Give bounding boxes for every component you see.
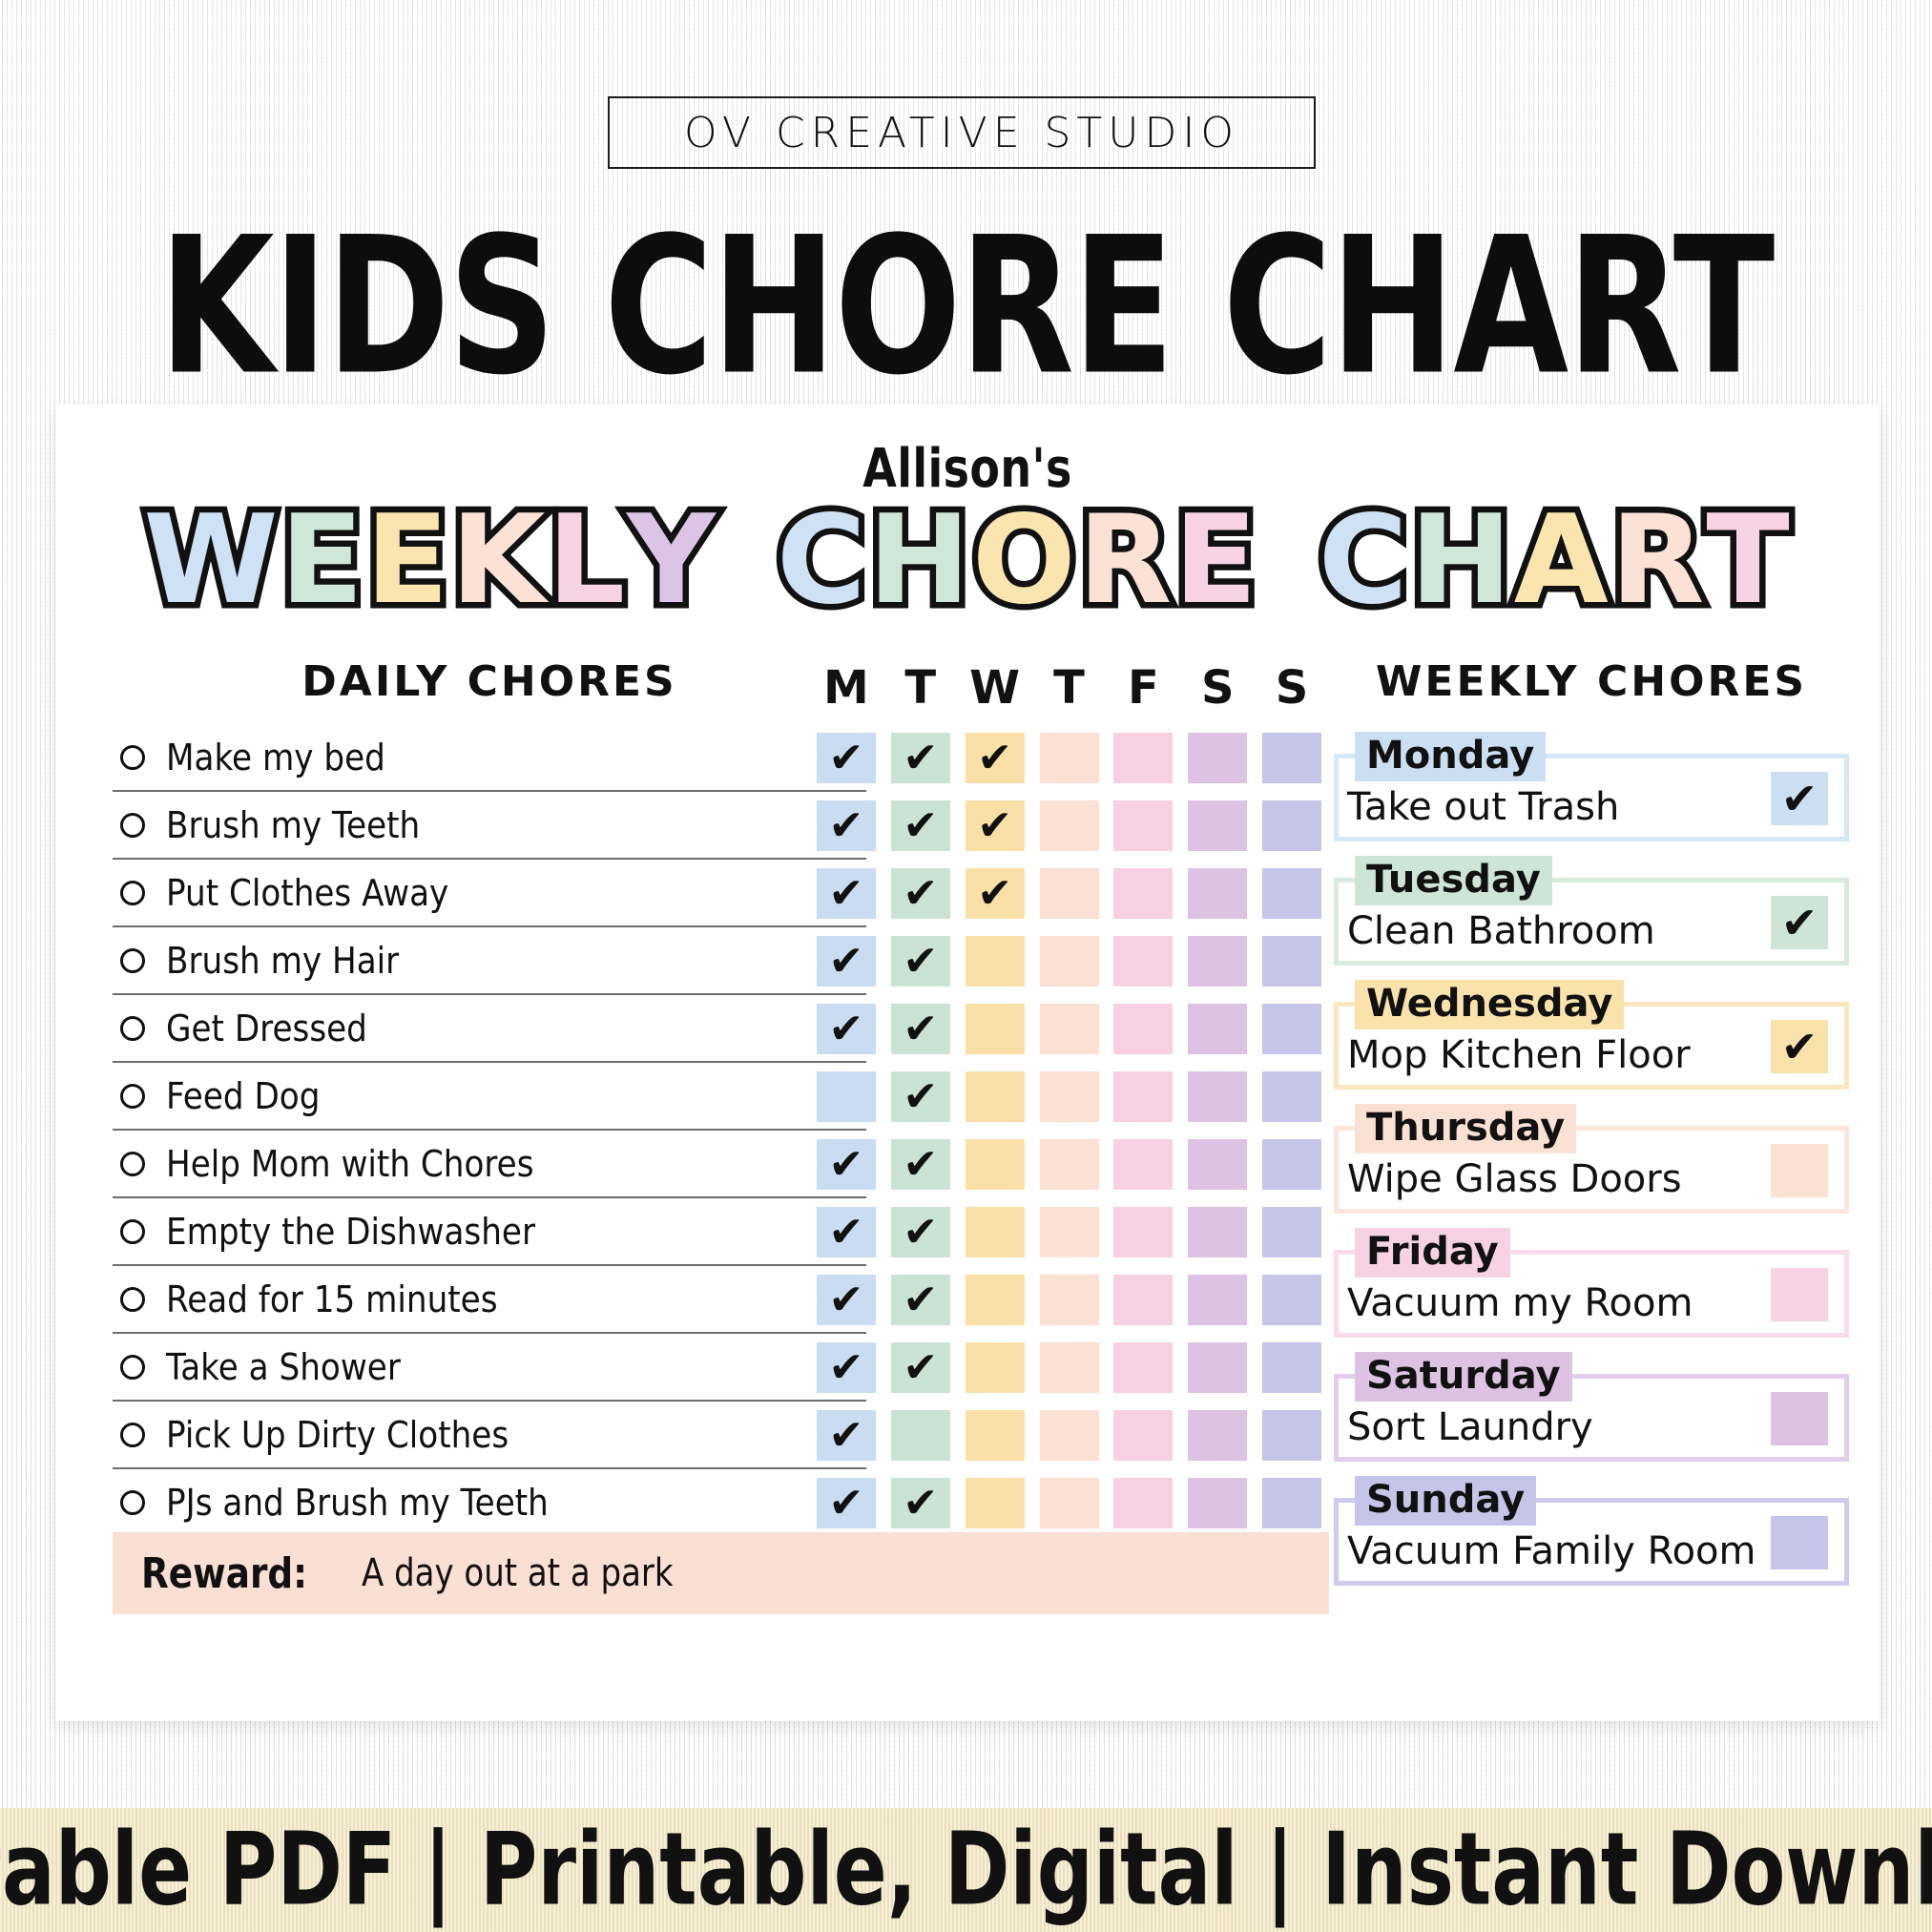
grid-cell-wrap: ✔	[883, 1139, 958, 1190]
grid-row: ✔✔	[809, 1198, 1329, 1266]
grid-row: ✔✔✔	[809, 792, 1329, 860]
promo-banner-text: Editable PDF | Printable, Digital | Inst…	[0, 1812, 1932, 1928]
grid-cell-empty[interactable]	[1113, 1410, 1173, 1461]
weekly-chore-item[interactable]: ThursdayWipe Glass Doors	[1334, 1104, 1849, 1228]
weekly-chore-task[interactable]: Wipe Glass Doors	[1347, 1157, 1682, 1201]
grid-cell-wrap: ✔	[958, 733, 1032, 783]
grid-cell-wrap	[1032, 1207, 1107, 1257]
grid-cell-wrap	[1032, 1139, 1107, 1190]
grid-cell-wrap	[1032, 1342, 1107, 1393]
daily-chore-row[interactable]: Pick Up Dirty Clothes	[113, 1402, 866, 1469]
grid-cell-empty[interactable]	[1040, 1207, 1099, 1257]
weekly-chore-item[interactable]: MondayTake out Trash✔	[1334, 732, 1849, 856]
grid-cell-wrap	[1180, 1342, 1255, 1393]
grid-cell-checked[interactable]: ✔	[817, 1207, 876, 1257]
weekly-chore-checkbox-empty[interactable]	[1771, 1392, 1828, 1445]
bubble-letter: E	[280, 495, 365, 627]
grid-cell-empty[interactable]	[1040, 800, 1099, 851]
weekday-initial: T	[1032, 661, 1107, 715]
grid-cell-wrap	[1255, 1004, 1329, 1054]
grid-cell-empty[interactable]	[1262, 800, 1321, 851]
weekday-initial: S	[1255, 661, 1329, 715]
reward-label: Reward:	[141, 1549, 307, 1598]
grid-row: ✔✔	[809, 1266, 1329, 1334]
bubble-word-chart: CHART	[1319, 495, 1792, 627]
grid-cell-wrap	[1032, 1478, 1107, 1528]
grid-row: ✔✔✔	[809, 724, 1329, 792]
grid-cell-wrap	[1032, 936, 1107, 987]
grid-cell-empty[interactable]	[966, 1410, 1025, 1461]
circle-checkbox-icon[interactable]	[120, 1084, 145, 1109]
grid-cell-wrap: ✔	[883, 1478, 958, 1528]
grid-cell-empty[interactable]	[1113, 1139, 1173, 1190]
grid-cell-wrap	[1106, 1004, 1180, 1054]
grid-cell-wrap: ✔	[809, 1139, 883, 1190]
daily-chore-label: PJs and Brush my Teeth	[166, 1482, 549, 1524]
grid-cell-checked[interactable]: ✔	[891, 733, 950, 783]
grid-cell-empty[interactable]	[1040, 1139, 1099, 1190]
grid-cell-empty[interactable]	[966, 1207, 1025, 1257]
grid-cell-empty[interactable]	[1040, 1275, 1099, 1325]
grid-cell-wrap: ✔	[883, 1004, 958, 1054]
bubble-letter: A	[1514, 495, 1610, 627]
bubble-letter: R	[1610, 495, 1707, 627]
daily-chore-row[interactable]: Put Clothes Away	[113, 860, 866, 927]
grid-row: ✔✔	[809, 995, 1329, 1063]
grid-cell-wrap	[1106, 1342, 1180, 1393]
grid-cell-wrap	[1180, 868, 1255, 919]
grid-cell-wrap	[1032, 800, 1107, 851]
grid-cell-checked[interactable]: ✔	[817, 1275, 876, 1325]
grid-cell-empty[interactable]	[1113, 936, 1173, 987]
weekly-chore-day-label: Wednesday	[1355, 980, 1624, 1029]
grid-cell-wrap: ✔	[809, 1342, 883, 1393]
weekly-chore-task[interactable]: Vacuum my Room	[1347, 1281, 1693, 1325]
grid-cell-checked[interactable]: ✔	[891, 868, 950, 919]
weekday-initial: W	[958, 661, 1032, 715]
weekday-grid-body: ✔✔✔✔✔✔✔✔✔✔✔✔✔✔✔✔✔✔✔✔✔✔✔✔✔	[809, 724, 1329, 1537]
daily-chore-label: Brush my Teeth	[166, 804, 420, 846]
grid-row: ✔✔	[809, 927, 1329, 995]
grid-cell-empty[interactable]	[1040, 1342, 1099, 1393]
grid-cell-wrap: ✔	[883, 1071, 958, 1122]
grid-cell-empty[interactable]	[1262, 868, 1321, 919]
daily-chore-label: Get Dressed	[166, 1008, 367, 1049]
grid-cell-wrap	[1180, 1275, 1255, 1325]
grid-cell-wrap: ✔	[883, 1207, 958, 1257]
grid-cell-wrap	[1106, 1071, 1180, 1122]
daily-chores-list: Make my bedBrush my TeethPut Clothes Awa…	[113, 724, 866, 1537]
grid-cell-wrap	[958, 1342, 1032, 1393]
grid-cell-empty[interactable]	[966, 1004, 1025, 1054]
circle-checkbox-icon[interactable]	[120, 948, 145, 973]
page-title: KIDS CHORE CHART	[68, 212, 1864, 401]
grid-cell-wrap: ✔	[809, 1004, 883, 1054]
grid-cell-wrap	[958, 1410, 1032, 1461]
grid-cell-checked[interactable]: ✔	[817, 868, 876, 919]
grid-cell-wrap	[1180, 936, 1255, 987]
daily-chore-row[interactable]: Brush my Teeth	[113, 792, 866, 860]
weekly-chore-task[interactable]: Take out Trash	[1347, 785, 1619, 829]
grid-cell-wrap: ✔	[883, 1275, 958, 1325]
grid-cell-empty[interactable]	[1113, 1207, 1173, 1257]
grid-cell-wrap: ✔	[809, 1207, 883, 1257]
brand-logo-text: OV CREATIVE STUDIO	[684, 109, 1239, 157]
grid-cell-empty[interactable]	[1188, 1139, 1247, 1190]
circle-checkbox-icon[interactable]	[120, 1152, 145, 1176]
grid-cell-empty[interactable]	[1113, 733, 1173, 783]
grid-cell-wrap	[958, 1478, 1032, 1528]
circle-checkbox-icon[interactable]	[120, 881, 145, 905]
weekly-chore-day-label: Friday	[1355, 1228, 1510, 1278]
grid-cell-empty[interactable]	[1113, 1342, 1173, 1393]
grid-cell-wrap	[1180, 1410, 1255, 1461]
weekly-chore-checkbox-checked[interactable]: ✔	[1771, 896, 1828, 949]
grid-cell-wrap	[1106, 1139, 1180, 1190]
grid-cell-empty[interactable]	[1040, 1004, 1099, 1054]
grid-cell-empty[interactable]	[1262, 1004, 1321, 1054]
grid-cell-checked[interactable]: ✔	[817, 733, 876, 783]
grid-cell-wrap: ✔	[958, 868, 1032, 919]
grid-row: ✔✔✔	[809, 860, 1329, 927]
daily-chores-heading: DAILY CHORES	[113, 657, 866, 718]
grid-cell-empty[interactable]	[1040, 1478, 1099, 1528]
grid-cell-empty[interactable]	[817, 1071, 876, 1122]
bubble-letter: W	[143, 495, 280, 627]
grid-cell-checked[interactable]: ✔	[817, 800, 876, 851]
grid-row: ✔✔	[809, 1469, 1329, 1537]
daily-chore-row[interactable]: Take a Shower	[113, 1334, 866, 1402]
circle-checkbox-icon[interactable]	[120, 1355, 145, 1380]
grid-cell-checked[interactable]: ✔	[891, 1071, 950, 1122]
daily-chore-label: Read for 15 minutes	[166, 1278, 498, 1320]
grid-cell-checked[interactable]: ✔	[891, 1275, 950, 1325]
weekly-chore-day-label: Monday	[1355, 732, 1546, 781]
grid-cell-checked[interactable]: ✔	[817, 1004, 876, 1054]
weekly-chore-task[interactable]: Mop Kitchen Floor	[1347, 1033, 1691, 1077]
grid-cell-wrap: ✔	[958, 800, 1032, 851]
bubble-word-chore: CHORE	[777, 495, 1259, 627]
weekly-chore-item[interactable]: SundayVacuum Family Room	[1334, 1476, 1849, 1600]
weekly-chore-day-label: Thursday	[1355, 1104, 1576, 1153]
grid-cell-wrap	[1106, 868, 1180, 919]
grid-cell-wrap	[1255, 1410, 1329, 1461]
grid-cell-checked[interactable]: ✔	[966, 800, 1025, 851]
grid-cell-empty[interactable]	[1113, 1478, 1173, 1528]
grid-cell-empty[interactable]	[1188, 1071, 1247, 1122]
grid-cell-empty[interactable]	[966, 1478, 1025, 1528]
grid-cell-wrap: ✔	[883, 733, 958, 783]
grid-cell-empty[interactable]	[1262, 1478, 1321, 1528]
weekday-header-row: MTWTFSS	[809, 657, 1329, 718]
weekly-chore-checkbox-checked[interactable]: ✔	[1771, 772, 1828, 825]
grid-cell-wrap	[1106, 1410, 1180, 1461]
grid-cell-empty[interactable]	[1113, 1071, 1173, 1122]
grid-cell-empty[interactable]	[1262, 1410, 1321, 1461]
grid-cell-wrap	[809, 1071, 883, 1122]
weekday-initial: M	[809, 661, 883, 715]
grid-cell-empty[interactable]	[1188, 1478, 1247, 1528]
daily-chore-label: Pick Up Dirty Clothes	[166, 1414, 509, 1456]
daily-chore-row[interactable]: Get Dressed	[113, 995, 866, 1063]
bubble-title: WEEKLYCHORECHART	[55, 495, 1880, 627]
weekday-initial: T	[883, 661, 958, 715]
grid-cell-wrap	[1032, 733, 1107, 783]
weekly-chore-task[interactable]: Sort Laundry	[1347, 1405, 1593, 1449]
bubble-letter: K	[450, 495, 547, 627]
grid-cell-empty[interactable]	[966, 936, 1025, 987]
bubble-letter: T	[1706, 495, 1791, 627]
grid-cell-empty[interactable]	[1188, 868, 1247, 919]
grid-cell-wrap	[1106, 800, 1180, 851]
grid-cell-wrap	[1255, 1139, 1329, 1190]
brand-logo-box: OV CREATIVE STUDIO	[608, 96, 1316, 169]
grid-cell-empty[interactable]	[1040, 936, 1099, 987]
grid-cell-wrap: ✔	[883, 868, 958, 919]
weekly-chore-checkbox-empty[interactable]	[1771, 1144, 1828, 1197]
grid-cell-checked[interactable]: ✔	[891, 800, 950, 851]
daily-chore-row[interactable]: Brush my Hair	[113, 927, 866, 995]
circle-checkbox-icon[interactable]	[120, 745, 145, 770]
bubble-word-weekly: WEEKLY	[143, 495, 717, 627]
weekly-chore-day-label: Sunday	[1355, 1476, 1536, 1526]
grid-cell-wrap	[1106, 1207, 1180, 1257]
weekday-initial: S	[1180, 661, 1255, 715]
grid-cell-checked[interactable]: ✔	[966, 733, 1025, 783]
grid-cell-wrap	[1255, 1071, 1329, 1122]
weekly-chore-day-label: Tuesday	[1355, 856, 1552, 905]
grid-cell-empty[interactable]	[1113, 1004, 1173, 1054]
weekly-chore-checkbox-empty[interactable]	[1771, 1516, 1828, 1569]
grid-cell-empty[interactable]	[1262, 1207, 1321, 1257]
daily-chore-row[interactable]: Help Mom with Chores	[113, 1131, 866, 1198]
daily-chore-row[interactable]: Make my bed	[113, 724, 866, 792]
grid-cell-wrap	[1255, 800, 1329, 851]
grid-cell-empty[interactable]	[1188, 1004, 1247, 1054]
grid-cell-checked[interactable]: ✔	[817, 1478, 876, 1528]
grid-cell-empty[interactable]	[1262, 1275, 1321, 1325]
grid-cell-wrap: ✔	[809, 1478, 883, 1528]
grid-cell-empty[interactable]	[1188, 1342, 1247, 1393]
grid-cell-wrap	[1032, 1410, 1107, 1461]
grid-row: ✔	[809, 1402, 1329, 1469]
chore-chart-card: Allison's WEEKLYCHORECHART DAILY CHORES …	[55, 405, 1880, 1721]
grid-cell-empty[interactable]	[1040, 1071, 1099, 1122]
weekly-chore-checkbox-checked[interactable]: ✔	[1771, 1020, 1828, 1073]
circle-checkbox-icon[interactable]	[120, 1287, 145, 1312]
grid-cell-empty[interactable]	[1188, 733, 1247, 783]
grid-cell-wrap	[1106, 936, 1180, 987]
grid-cell-wrap	[1180, 1071, 1255, 1122]
daily-chore-label: Take a Shower	[166, 1346, 401, 1388]
weekly-chore-item[interactable]: TuesdayClean Bathroom✔	[1334, 856, 1849, 980]
grid-cell-wrap	[1180, 1478, 1255, 1528]
bubble-letter: C	[1319, 495, 1410, 627]
weekly-chore-item[interactable]: WednesdayMop Kitchen Floor✔	[1334, 980, 1849, 1104]
bubble-letter: C	[777, 495, 868, 627]
circle-checkbox-icon[interactable]	[120, 1016, 145, 1041]
daily-chore-row[interactable]: Feed Dog	[113, 1063, 866, 1131]
bubble-letter: Y	[627, 495, 717, 627]
grid-cell-wrap	[1180, 1207, 1255, 1257]
grid-cell-wrap: ✔	[809, 800, 883, 851]
grid-cell-wrap	[1255, 1207, 1329, 1257]
grid-cell-wrap: ✔	[809, 733, 883, 783]
grid-cell-empty[interactable]	[1113, 868, 1173, 919]
grid-cell-empty[interactable]	[966, 1275, 1025, 1325]
grid-cell-wrap	[1032, 1004, 1107, 1054]
grid-row: ✔✔	[809, 1131, 1329, 1198]
grid-cell-checked[interactable]: ✔	[891, 1004, 950, 1054]
grid-cell-wrap	[958, 936, 1032, 987]
bubble-letter: H	[1410, 495, 1514, 627]
circle-checkbox-icon[interactable]	[120, 813, 145, 838]
grid-row: ✔	[809, 1063, 1329, 1131]
grid-cell-checked[interactable]: ✔	[817, 1139, 876, 1190]
bubble-letter: L	[548, 495, 628, 627]
grid-cell-wrap	[1255, 936, 1329, 987]
grid-cell-wrap	[958, 1071, 1032, 1122]
grid-cell-wrap	[1180, 733, 1255, 783]
grid-cell-empty[interactable]	[1262, 936, 1321, 987]
bubble-letter: H	[868, 495, 972, 627]
weekday-initial: F	[1106, 661, 1180, 715]
grid-cell-wrap: ✔	[883, 800, 958, 851]
grid-cell-wrap	[1032, 1275, 1107, 1325]
daily-chore-row[interactable]: Empty the Dishwasher	[113, 1198, 866, 1266]
grid-cell-checked[interactable]: ✔	[817, 936, 876, 987]
grid-cell-wrap	[1106, 1478, 1180, 1528]
weekly-chores-heading: WEEKLY CHORES	[1334, 657, 1849, 718]
circle-checkbox-icon[interactable]	[120, 1423, 145, 1447]
grid-cell-wrap	[958, 1275, 1032, 1325]
promo-banner: Editable PDF | Printable, Digital | Inst…	[0, 1808, 1932, 1932]
grid-cell-empty[interactable]	[1188, 1410, 1247, 1461]
grid-cell-wrap: ✔	[809, 1410, 883, 1461]
weekly-chore-day-label: Saturday	[1355, 1352, 1572, 1402]
weekly-chores-list: MondayTake out Trash✔TuesdayClean Bathro…	[1334, 732, 1849, 1600]
grid-cell-empty[interactable]	[1040, 1410, 1099, 1461]
grid-cell-checked[interactable]: ✔	[891, 1478, 950, 1528]
reward-bar: Reward: A day out at a park	[113, 1532, 1329, 1614]
grid-cell-checked[interactable]: ✔	[891, 936, 950, 987]
daily-chore-row[interactable]: Read for 15 minutes	[113, 1266, 866, 1334]
grid-cell-wrap	[1255, 1478, 1329, 1528]
grid-cell-wrap	[1255, 1342, 1329, 1393]
grid-cell-wrap	[1180, 1004, 1255, 1054]
grid-cell-wrap	[1180, 1139, 1255, 1190]
grid-cell-empty[interactable]	[966, 1342, 1025, 1393]
grid-cell-wrap	[1106, 1275, 1180, 1325]
daily-chore-row[interactable]: PJs and Brush my Teeth	[113, 1469, 866, 1537]
grid-cell-checked[interactable]: ✔	[966, 868, 1025, 919]
weekly-chore-task[interactable]: Vacuum Family Room	[1347, 1529, 1755, 1573]
grid-cell-wrap	[1032, 868, 1107, 919]
grid-cell-checked[interactable]: ✔	[891, 1139, 950, 1190]
grid-cell-empty[interactable]	[1262, 733, 1321, 783]
grid-cell-checked[interactable]: ✔	[891, 1207, 950, 1257]
daily-chore-label: Feed Dog	[166, 1075, 320, 1117]
grid-cell-wrap: ✔	[809, 936, 883, 987]
grid-cell-empty[interactable]	[1113, 1275, 1173, 1325]
grid-cell-wrap	[1255, 1275, 1329, 1325]
daily-chore-label: Brush my Hair	[166, 940, 399, 982]
grid-cell-empty[interactable]	[1262, 1071, 1321, 1122]
grid-cell-empty[interactable]	[1262, 1342, 1321, 1393]
weekly-chore-item[interactable]: FridayVacuum my Room	[1334, 1228, 1849, 1352]
bubble-letter: R	[1078, 495, 1174, 627]
grid-cell-empty[interactable]	[891, 1410, 950, 1461]
reward-value[interactable]: A day out at a park	[362, 1551, 674, 1595]
grid-cell-empty[interactable]	[1188, 1207, 1247, 1257]
grid-cell-checked[interactable]: ✔	[891, 1342, 950, 1393]
daily-chore-label: Help Mom with Chores	[166, 1143, 534, 1185]
grid-cell-checked[interactable]: ✔	[817, 1410, 876, 1461]
grid-cell-empty[interactable]	[1040, 733, 1099, 783]
grid-cell-wrap: ✔	[883, 1342, 958, 1393]
bubble-letter: E	[1174, 495, 1258, 627]
grid-cell-empty[interactable]	[966, 1071, 1025, 1122]
weekly-chore-task[interactable]: Clean Bathroom	[1347, 909, 1655, 953]
grid-cell-wrap	[1106, 733, 1180, 783]
grid-cell-wrap	[883, 1410, 958, 1461]
grid-cell-empty[interactable]	[1188, 936, 1247, 987]
grid-cell-wrap: ✔	[809, 1275, 883, 1325]
grid-cell-wrap	[958, 1207, 1032, 1257]
grid-cell-empty[interactable]	[1113, 800, 1173, 851]
grid-cell-checked[interactable]: ✔	[817, 1342, 876, 1393]
grid-cell-wrap	[958, 1004, 1032, 1054]
grid-cell-wrap: ✔	[809, 868, 883, 919]
grid-cell-empty[interactable]	[966, 1139, 1025, 1190]
grid-cell-wrap: ✔	[883, 936, 958, 987]
grid-cell-empty[interactable]	[1040, 868, 1099, 919]
grid-row: ✔✔	[809, 1334, 1329, 1402]
grid-cell-wrap	[1032, 1071, 1107, 1122]
bubble-letter: O	[972, 495, 1078, 627]
grid-cell-empty[interactable]	[1188, 1275, 1247, 1325]
daily-chore-label: Make my bed	[166, 737, 385, 779]
grid-cell-wrap	[958, 1139, 1032, 1190]
grid-cell-wrap	[1255, 733, 1329, 783]
weekly-chore-checkbox-empty[interactable]	[1771, 1268, 1828, 1321]
grid-cell-empty[interactable]	[1188, 800, 1247, 851]
bubble-letter: E	[365, 495, 450, 627]
weekly-chores-column: WEEKLY CHORES MondayTake out Trash✔Tuesd…	[1334, 657, 1849, 1600]
grid-cell-empty[interactable]	[1262, 1139, 1321, 1190]
daily-chores-column: DAILY CHORES Make my bedBrush my TeethPu…	[113, 657, 866, 1537]
grid-cell-wrap	[1180, 800, 1255, 851]
circle-checkbox-icon[interactable]	[120, 1490, 145, 1515]
daily-chore-label: Empty the Dishwasher	[166, 1211, 535, 1253]
circle-checkbox-icon[interactable]	[120, 1219, 145, 1244]
grid-cell-wrap	[1255, 868, 1329, 919]
weekday-grid-column: MTWTFSS ✔✔✔✔✔✔✔✔✔✔✔✔✔✔✔✔✔✔✔✔✔✔✔✔✔	[809, 657, 1329, 1537]
daily-chore-label: Put Clothes Away	[166, 872, 448, 914]
weekly-chore-item[interactable]: SaturdaySort Laundry	[1334, 1352, 1849, 1476]
